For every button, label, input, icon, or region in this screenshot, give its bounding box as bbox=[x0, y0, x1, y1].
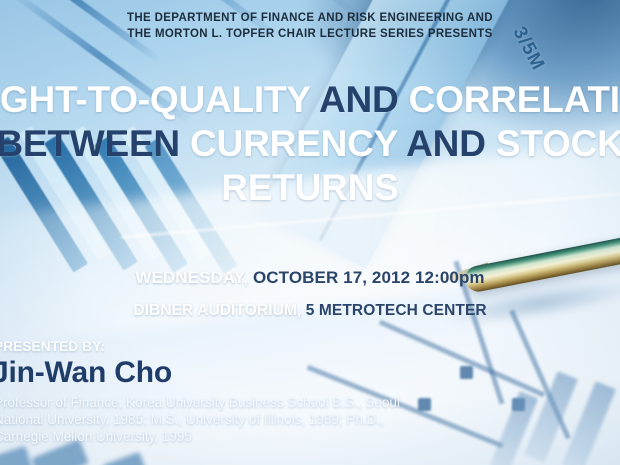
event-location: DIBNER AUDITORIUM, 5 METROTECH CENTER bbox=[0, 302, 620, 320]
kicker-line-2: THE MORTON L. TOPFER CHAIR LECTURE SERIE… bbox=[0, 26, 620, 42]
title-line-1: FLIGHT-TO-QUALITY AND CORRELATION bbox=[0, 78, 620, 122]
bio-line-2: National University, 1985; M.S., Univers… bbox=[0, 411, 494, 428]
title-word: CURRENCY bbox=[190, 123, 397, 164]
event-day: WEDNESDAY, bbox=[135, 268, 248, 287]
poster-title: FLIGHT-TO-QUALITY AND CORRELATION BETWEE… bbox=[0, 78, 620, 210]
title-word: FLIGHT-TO-QUALITY bbox=[0, 79, 310, 120]
bio-line-1: Professor of Finance, Korea University B… bbox=[0, 394, 494, 411]
event-address-text: 5 METROTECH CENTER bbox=[306, 302, 487, 319]
title-word: BETWEEN bbox=[0, 123, 190, 164]
title-line-2: BETWEEN CURRENCY AND STOCK bbox=[0, 122, 620, 166]
title-word: AND bbox=[397, 123, 495, 164]
event-date-time: OCTOBER 17, 2012 12:00pm bbox=[248, 268, 485, 287]
title-word: STOCK bbox=[496, 123, 620, 164]
title-line-3: RETURNS bbox=[0, 166, 620, 210]
event-venue: DIBNER AUDITORIUM, bbox=[133, 302, 301, 319]
presented-by-label: PRESENTED BY: bbox=[0, 339, 105, 354]
title-word: AND bbox=[310, 79, 408, 120]
speaker-bio: Professor of Finance, Korea University B… bbox=[0, 394, 494, 445]
poster-content: THE DEPARTMENT OF FINANCE AND RISK ENGIN… bbox=[0, 0, 620, 465]
event-date-time-text: OCTOBER 17, 2012 12:00pm bbox=[253, 268, 485, 287]
kicker-line-1: THE DEPARTMENT OF FINANCE AND RISK ENGIN… bbox=[0, 10, 620, 26]
lecture-poster: 3/5M THE DEPARTMENT OF FINANCE AND RISK … bbox=[0, 0, 620, 465]
event-datetime: WEDNESDAY, OCTOBER 17, 2012 12:00pm bbox=[0, 268, 620, 288]
title-word: CORRELATION bbox=[409, 79, 620, 120]
event-address: 5 METROTECH CENTER bbox=[301, 302, 486, 319]
title-word: RETURNS bbox=[221, 167, 398, 208]
speaker-name: Jin-Wan Cho bbox=[0, 356, 172, 390]
bio-line-3: Carnegie Mellon University, 1995 bbox=[0, 428, 494, 445]
department-kicker: THE DEPARTMENT OF FINANCE AND RISK ENGIN… bbox=[0, 10, 620, 42]
